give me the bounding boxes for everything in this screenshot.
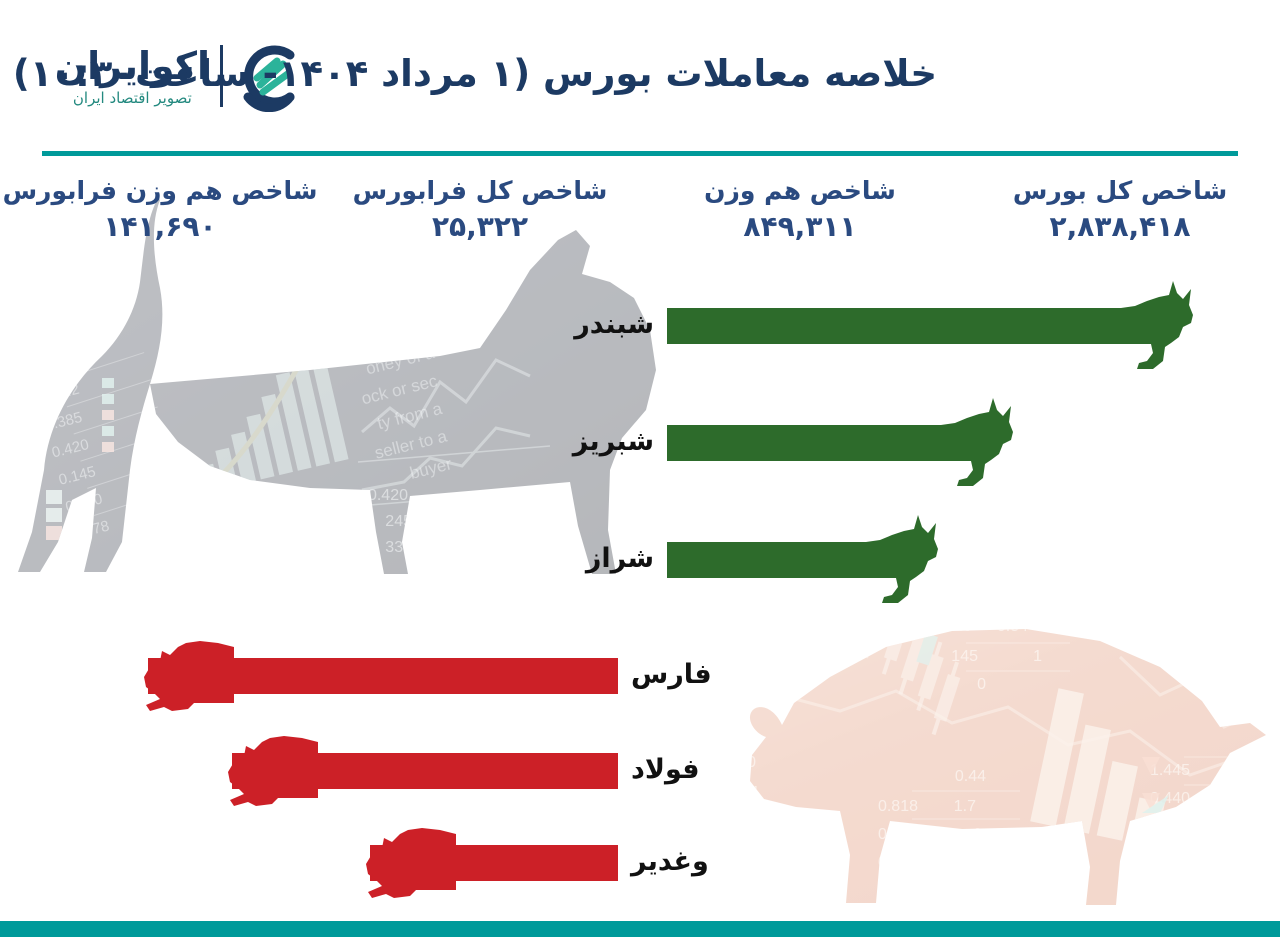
bar-label: فولاد	[631, 752, 700, 788]
bear-icon	[228, 736, 318, 810]
bar-fill	[667, 308, 1147, 344]
bar-row-sharaz[interactable]: شراز	[667, 542, 1267, 578]
footer-accent-bar	[0, 921, 1280, 937]
bull-icon	[852, 513, 938, 607]
bar-label: فارس	[631, 657, 712, 693]
bull-icon	[927, 396, 1013, 490]
bar-row-shabriz[interactable]: شبریز	[667, 425, 1267, 461]
bar-label: شبندر	[574, 307, 654, 343]
bar-row-foolad[interactable]: فولاد	[18, 753, 718, 789]
bar-chart: شبندر شبریز شراز فارس فولاد وغدیر	[0, 0, 1280, 937]
bar-row-shabandar[interactable]: شبندر	[667, 308, 1267, 344]
bear-icon	[144, 641, 234, 715]
bar-label: شبریز	[573, 424, 654, 460]
bear-icon	[366, 828, 456, 902]
bull-icon	[1107, 279, 1193, 373]
bar-row-fars[interactable]: فارس	[18, 658, 718, 694]
infographic-page: markets mea e transfer oney of a ock or …	[0, 0, 1280, 937]
bar-label: شراز	[586, 541, 654, 577]
bar-label: وغدیر	[631, 844, 709, 880]
bar-fill	[667, 425, 967, 461]
bar-row-vaghadir[interactable]: وغدیر	[18, 845, 718, 881]
